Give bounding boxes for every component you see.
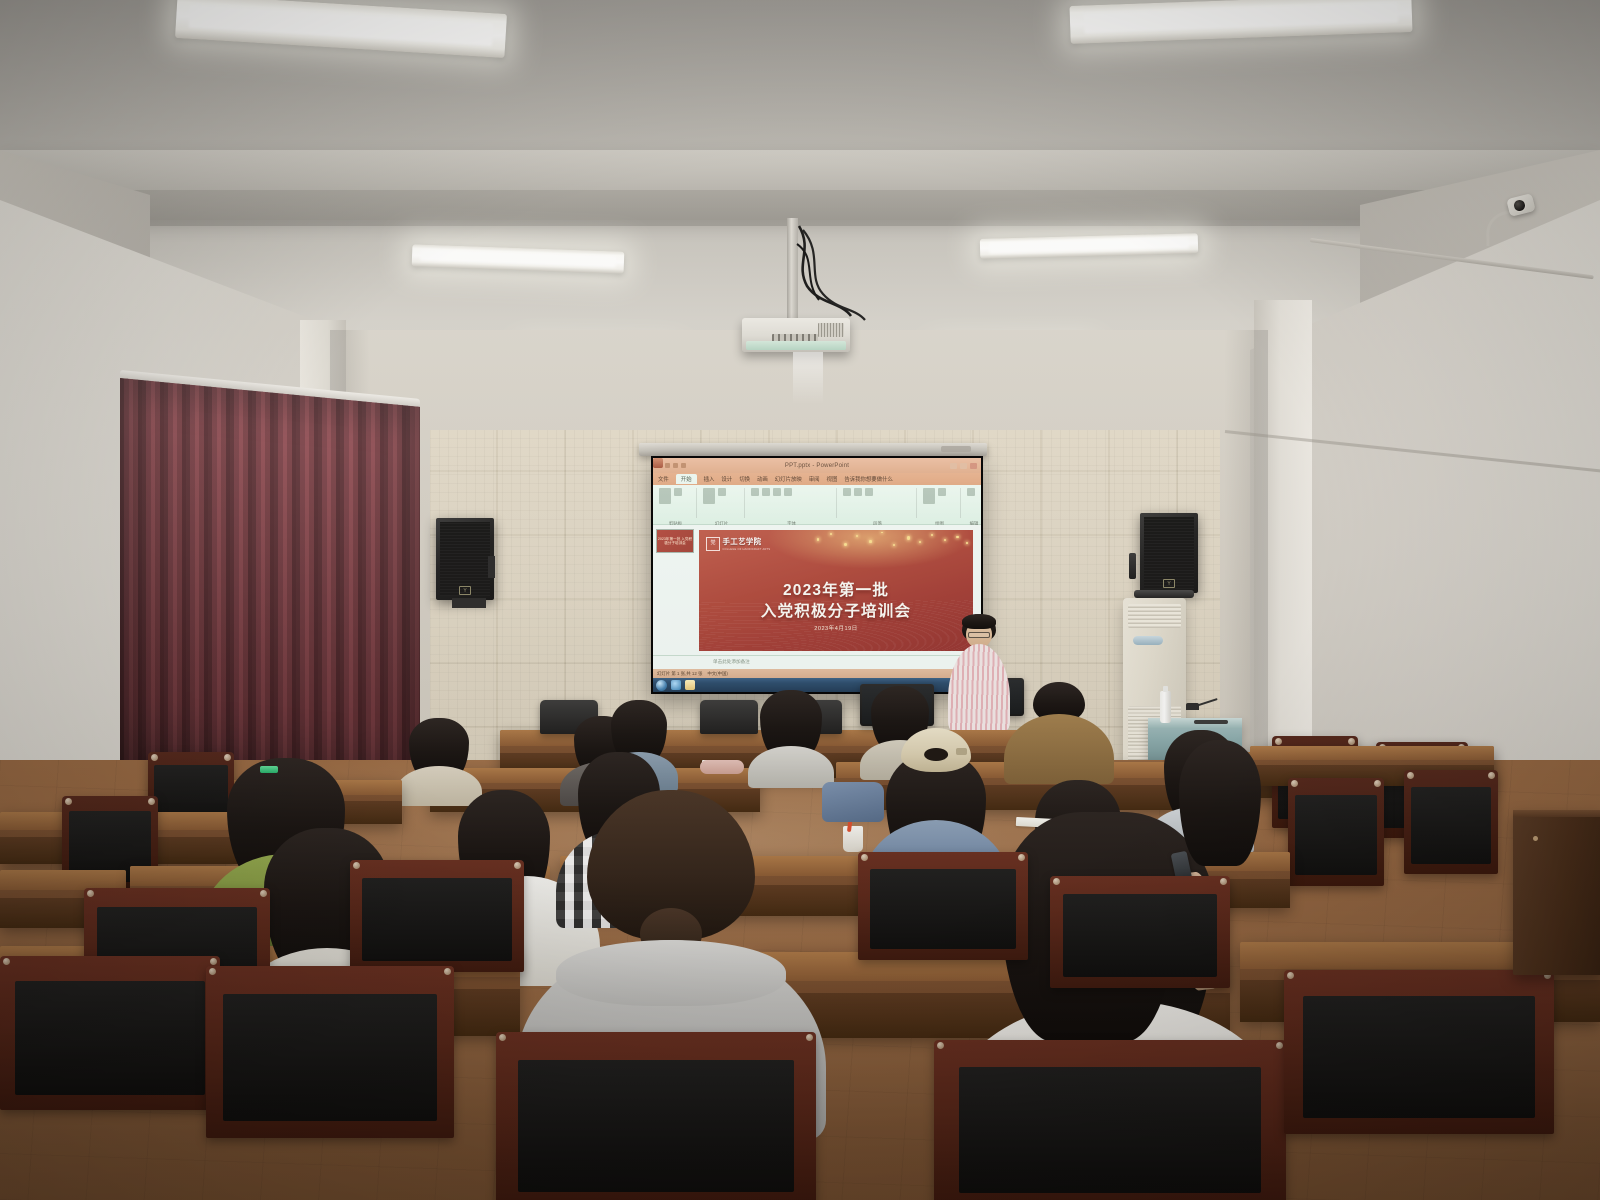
notes-pane[interactable]: 单击此处添加备注 xyxy=(653,655,981,669)
language-indicator[interactable]: 中文(中国) xyxy=(707,671,728,677)
tab-home[interactable]: 开始 xyxy=(676,474,697,484)
cabinet-top-lip xyxy=(1513,810,1600,817)
tab-design[interactable]: 设计 xyxy=(721,475,732,483)
cabinet-lock-icon[interactable] xyxy=(1533,836,1538,841)
powerpoint-window-title: PPT.pptx - PowerPoint xyxy=(653,463,981,469)
ribbon[interactable]: 剪贴板 幻灯片 字体 段落 xyxy=(653,485,981,525)
internet-explorer-icon[interactable] xyxy=(671,680,681,690)
italic-icon[interactable] xyxy=(762,488,770,496)
ribbon-group-paragraph[interactable]: 段落 xyxy=(839,488,917,518)
slide-stage: 党 手工艺学院 COLLEGE OF HANDICRAFT ARTS 2023年… xyxy=(697,525,981,655)
pink-pouch[interactable] xyxy=(700,760,744,774)
ribbon-tabs[interactable]: 文件 开始 插入 设计 切换 动画 幻灯片放映 审阅 视图 告诉我你想要做什么 xyxy=(653,473,981,485)
cap-back-hole xyxy=(924,748,948,761)
paste-icon[interactable] xyxy=(659,488,671,504)
speaker-stand-left xyxy=(452,598,486,608)
college-seal-icon: 党 xyxy=(706,537,720,551)
empty-chair-3[interactable] xyxy=(1288,778,1384,886)
foreground-chair-center-left[interactable] xyxy=(350,860,524,972)
ribbon-group-clipboard[interactable]: 剪贴板 xyxy=(655,488,697,518)
screen-control-button[interactable] xyxy=(941,446,971,452)
nearest-chair-center[interactable] xyxy=(496,1032,816,1200)
powerpoint-window: PPT.pptx - PowerPoint 文件 开始 插入 设计 切换 动画 … xyxy=(653,458,981,692)
powerpoint-titlebar: PPT.pptx - PowerPoint xyxy=(653,458,981,473)
status-bar: 幻灯片 第 1 张,共 12 张 中文(中国) 66% xyxy=(653,669,981,678)
numbering-icon[interactable] xyxy=(854,488,862,496)
font-color-icon[interactable] xyxy=(784,488,792,496)
projector-lens xyxy=(746,341,846,350)
slide-title: 2023年第一批 入党积极分子培训会 xyxy=(699,580,973,623)
ribbon-group-slides[interactable]: 幻灯片 xyxy=(699,488,745,518)
cut-icon[interactable] xyxy=(674,488,682,496)
classroom-scene: PPT.pptx - PowerPoint 文件 开始 插入 设计 切换 动画 … xyxy=(0,0,1600,1200)
student-a1 xyxy=(396,718,482,788)
find-icon[interactable] xyxy=(967,488,975,496)
ribbon-group-editing[interactable]: 编辑 xyxy=(963,488,981,518)
bullets-icon[interactable] xyxy=(843,488,851,496)
arrange-icon[interactable] xyxy=(938,488,946,496)
slide-thumbnail-1[interactable]: 2023年第一批 入党积极分子培训会 xyxy=(656,529,694,553)
slide-date: 2023年4月19日 xyxy=(699,624,973,632)
college-name-english: COLLEGE OF HANDICRAFT ARTS xyxy=(723,548,771,551)
tab-tellme[interactable]: 告诉我你想要做什么 xyxy=(844,475,893,483)
tab-animations[interactable]: 动画 xyxy=(757,475,768,483)
underline-icon[interactable] xyxy=(773,488,781,496)
desk-lamp-base xyxy=(1194,720,1228,724)
presenter xyxy=(948,614,1010,730)
slide-logo: 党 手工艺学院 COLLEGE OF HANDICRAFT ARTS xyxy=(706,536,770,551)
ribbon-group-font[interactable]: 字体 xyxy=(747,488,837,518)
nearest-chair-right[interactable] xyxy=(934,1040,1286,1200)
slide-canvas: 党 手工艺学院 COLLEGE OF HANDICRAFT ARTS 2023年… xyxy=(699,530,973,651)
desk-lamp[interactable] xyxy=(1186,700,1230,724)
nearest-chair-center-left[interactable] xyxy=(206,966,454,1138)
wooden-cabinet[interactable] xyxy=(1513,810,1600,975)
desk-lamp-head xyxy=(1186,703,1199,710)
ac-brand-badge xyxy=(1133,636,1163,645)
water-bottle[interactable] xyxy=(1160,691,1171,723)
wall-speaker-left: Y xyxy=(436,518,494,600)
powerpoint-icon[interactable] xyxy=(653,458,663,468)
tab-view[interactable]: 视图 xyxy=(827,475,838,483)
drink-cup[interactable] xyxy=(843,826,863,852)
tab-review[interactable]: 审阅 xyxy=(809,475,820,483)
shapes-icon[interactable] xyxy=(923,488,935,504)
student-a5 xyxy=(1004,682,1114,780)
foreground-chair-row3-far-right[interactable] xyxy=(1050,876,1230,988)
ac-top-vent xyxy=(1128,604,1181,628)
align-icon[interactable] xyxy=(865,488,873,496)
baseball-cap xyxy=(901,728,971,772)
student-a5-body xyxy=(1004,714,1114,784)
ceiling-projector xyxy=(742,318,850,352)
projector-vent xyxy=(818,323,844,337)
speaker-bracket-left xyxy=(488,556,495,578)
folder-icon[interactable] xyxy=(685,680,695,690)
speaker-grille-left xyxy=(440,522,490,596)
projection-screen-housing xyxy=(639,443,987,456)
tab-transitions[interactable]: 切换 xyxy=(739,475,750,483)
presenter-torso xyxy=(948,644,1010,730)
tab-slideshow[interactable]: 幻灯片放映 xyxy=(775,475,802,483)
foreground-chair-row3-right[interactable] xyxy=(858,852,1028,960)
speaker-base-right xyxy=(1134,590,1194,598)
slide-counter: 幻灯片 第 1 张,共 12 张 xyxy=(657,671,702,677)
projection-screen: PPT.pptx - PowerPoint 文件 开始 插入 设计 切换 动画 … xyxy=(651,456,983,694)
cap-strap xyxy=(956,748,967,755)
microphone-on-ac[interactable] xyxy=(1129,553,1136,579)
backpack-on-desk[interactable] xyxy=(822,782,884,822)
ribbon-group-drawing[interactable]: 绘图 xyxy=(919,488,961,518)
nearest-chair-left[interactable] xyxy=(0,956,220,1110)
presenter-glasses-icon xyxy=(968,632,990,638)
presenter-fringe xyxy=(962,614,996,629)
student-a14 xyxy=(1168,740,1272,880)
tab-insert[interactable]: 插入 xyxy=(704,475,715,483)
hoodie-hood xyxy=(556,940,786,1006)
tab-file[interactable]: 文件 xyxy=(658,475,669,483)
powerpoint-workspace: 2023年第一批 入党积极分子培训会 xyxy=(653,525,981,655)
yamaha-logo-icon: Y xyxy=(459,586,471,595)
slide-sparkle-decoration xyxy=(803,530,973,576)
slide-thumbnail-pane[interactable]: 2023年第一批 入党积极分子培训会 xyxy=(653,525,697,655)
projector-light-glow xyxy=(793,352,823,404)
student-a4 xyxy=(748,690,834,768)
student-a14-hair xyxy=(1179,740,1261,866)
layout-icon[interactable] xyxy=(718,488,726,496)
college-name: 手工艺学院 xyxy=(723,536,771,547)
slide-title-line-1: 2023年第一批 xyxy=(699,580,973,601)
new-slide-icon[interactable] xyxy=(703,488,715,504)
slide-title-line-2: 入党积极分子培训会 xyxy=(699,601,973,622)
nearest-chair-far-right[interactable] xyxy=(1284,970,1554,1134)
empty-chair-4[interactable] xyxy=(1404,770,1498,874)
bold-icon[interactable] xyxy=(751,488,759,496)
yamaha-logo-icon-right: Y xyxy=(1163,579,1175,588)
student-a4-body xyxy=(748,746,834,788)
green-hair-clip xyxy=(260,766,278,773)
start-button-icon[interactable] xyxy=(656,680,667,691)
speaker-right: Y xyxy=(1140,513,1198,593)
